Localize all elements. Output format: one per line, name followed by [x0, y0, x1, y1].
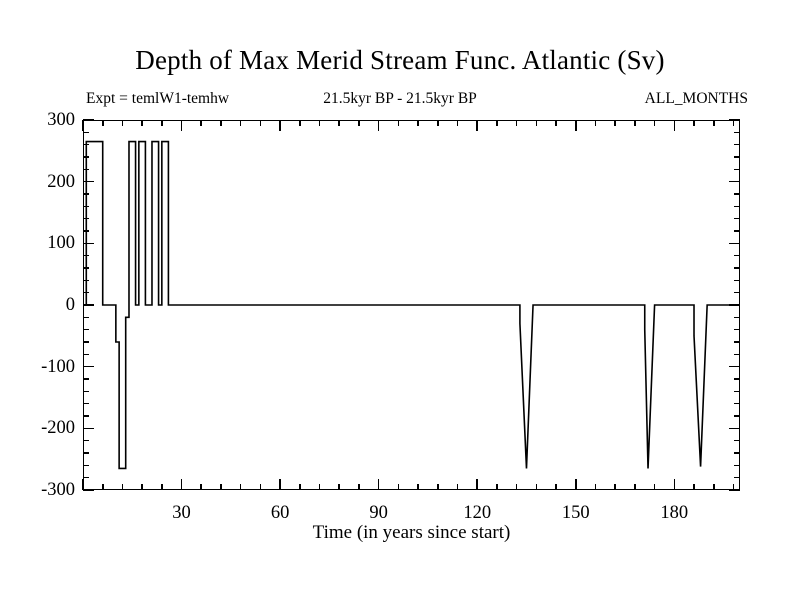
x-tick-minor — [733, 484, 735, 490]
y-tick-minor-right — [734, 144, 740, 146]
y-tick-minor — [83, 193, 89, 195]
x-tick-minor-top — [536, 120, 538, 126]
x-tick-minor — [536, 484, 538, 490]
x-tick-minor — [457, 484, 459, 490]
y-tick-major — [83, 366, 94, 368]
x-tick-major — [181, 479, 183, 490]
x-tick-minor-top — [713, 120, 715, 126]
y-tick-major — [83, 119, 94, 121]
y-tick-minor-right — [734, 156, 740, 158]
x-tick-minor — [240, 484, 242, 490]
x-tick-minor-top — [733, 120, 735, 126]
y-tick-minor-right — [734, 218, 740, 220]
x-tick-label: 60 — [245, 504, 315, 522]
y-tick-label: 200 — [5, 173, 75, 191]
y-tick-minor — [83, 280, 89, 282]
x-tick-minor — [122, 484, 124, 490]
y-tick-minor — [83, 477, 89, 479]
y-tick-major — [83, 489, 94, 491]
y-tick-minor-right — [734, 132, 740, 134]
x-tick-label: 30 — [147, 504, 217, 522]
y-tick-major-right — [729, 489, 740, 491]
x-tick-minor-top — [634, 120, 636, 126]
y-tick-minor-right — [734, 391, 740, 393]
y-tick-minor — [83, 218, 89, 220]
y-tick-major-right — [729, 428, 740, 430]
x-tick-major-top — [476, 120, 478, 131]
chart-figure: Depth of Max Merid Stream Func. Atlantic… — [0, 0, 800, 600]
y-tick-major — [83, 181, 94, 183]
x-tick-minor — [595, 484, 597, 490]
y-tick-minor — [83, 156, 89, 158]
x-tick-minor — [713, 484, 715, 490]
y-tick-minor-right — [734, 378, 740, 380]
x-tick-minor-top — [417, 120, 419, 126]
x-tick-major-top — [575, 120, 577, 131]
x-tick-minor-top — [102, 120, 104, 126]
y-tick-major-right — [729, 243, 740, 245]
y-tick-label: 100 — [5, 234, 75, 252]
x-tick-minor-top — [319, 120, 321, 126]
y-tick-minor — [83, 132, 89, 134]
x-tick-minor-top — [614, 120, 616, 126]
y-tick-minor-right — [734, 440, 740, 442]
y-tick-major — [83, 304, 94, 306]
y-tick-minor — [83, 267, 89, 269]
x-tick-minor-top — [398, 120, 400, 126]
y-tick-minor-right — [734, 329, 740, 331]
y-tick-minor — [83, 144, 89, 146]
y-tick-minor-right — [734, 341, 740, 343]
y-tick-minor-right — [734, 193, 740, 195]
x-tick-minor — [634, 484, 636, 490]
y-tick-minor-right — [734, 292, 740, 294]
x-tick-major — [476, 479, 478, 490]
x-tick-minor-top — [654, 120, 656, 126]
y-tick-minor-right — [734, 317, 740, 319]
y-tick-minor-right — [734, 206, 740, 208]
x-tick-major-top — [82, 120, 84, 131]
y-tick-major-right — [729, 181, 740, 183]
data-series-line — [83, 120, 740, 490]
x-tick-minor — [102, 484, 104, 490]
x-tick-minor-top — [141, 120, 143, 126]
y-tick-minor — [83, 341, 89, 343]
x-tick-minor — [161, 484, 163, 490]
x-tick-minor — [516, 484, 518, 490]
x-tick-minor-top — [240, 120, 242, 126]
x-tick-minor-top — [299, 120, 301, 126]
y-tick-minor-right — [734, 230, 740, 232]
x-tick-major-top — [279, 120, 281, 131]
y-tick-minor — [83, 465, 89, 467]
y-tick-minor — [83, 317, 89, 319]
y-tick-minor — [83, 440, 89, 442]
x-tick-minor — [398, 484, 400, 490]
y-tick-minor-right — [734, 452, 740, 454]
y-tick-label: -200 — [5, 419, 75, 437]
y-tick-minor-right — [734, 465, 740, 467]
x-axis-title: Time (in years since start) — [83, 522, 740, 544]
x-tick-major-top — [378, 120, 380, 131]
y-tick-minor-right — [734, 403, 740, 405]
x-tick-minor-top — [457, 120, 459, 126]
plot-area — [83, 120, 740, 490]
months-label: ALL_MONTHS — [645, 89, 748, 108]
y-tick-minor — [83, 292, 89, 294]
x-tick-minor-top — [161, 120, 163, 126]
y-tick-minor — [83, 452, 89, 454]
y-tick-major — [83, 428, 94, 430]
x-tick-minor — [358, 484, 360, 490]
x-tick-minor — [496, 484, 498, 490]
y-tick-minor — [83, 403, 89, 405]
x-tick-minor-top — [358, 120, 360, 126]
y-tick-minor-right — [734, 267, 740, 269]
x-tick-minor — [693, 484, 695, 490]
y-tick-minor — [83, 378, 89, 380]
x-tick-minor-top — [122, 120, 124, 126]
y-tick-label: -300 — [5, 481, 75, 499]
x-tick-minor-top — [220, 120, 222, 126]
x-tick-label: 180 — [639, 504, 709, 522]
y-tick-minor — [83, 415, 89, 417]
x-tick-minor — [200, 484, 202, 490]
x-tick-minor-top — [496, 120, 498, 126]
x-tick-major — [82, 479, 84, 490]
y-tick-minor-right — [734, 477, 740, 479]
y-tick-minor-right — [734, 169, 740, 171]
x-tick-minor-top — [338, 120, 340, 126]
x-tick-minor — [299, 484, 301, 490]
y-tick-minor — [83, 255, 89, 257]
x-tick-minor — [141, 484, 143, 490]
y-tick-minor-right — [734, 354, 740, 356]
x-tick-minor-top — [595, 120, 597, 126]
page-title: Depth of Max Merid Stream Func. Atlantic… — [0, 44, 800, 76]
x-tick-minor-top — [516, 120, 518, 126]
y-tick-minor — [83, 169, 89, 171]
x-tick-label: 120 — [442, 504, 512, 522]
x-tick-minor — [614, 484, 616, 490]
x-tick-major-top — [181, 120, 183, 131]
x-tick-minor-top — [555, 120, 557, 126]
x-tick-minor — [220, 484, 222, 490]
y-tick-major-right — [729, 304, 740, 306]
y-tick-label: 300 — [5, 111, 75, 129]
y-tick-minor — [83, 329, 89, 331]
x-tick-major — [378, 479, 380, 490]
x-tick-label: 90 — [344, 504, 414, 522]
x-tick-minor-top — [200, 120, 202, 126]
x-tick-minor — [338, 484, 340, 490]
y-tick-major — [83, 243, 94, 245]
x-tick-minor — [437, 484, 439, 490]
x-tick-minor-top — [437, 120, 439, 126]
x-tick-minor-top — [693, 120, 695, 126]
y-tick-minor — [83, 230, 89, 232]
y-tick-minor-right — [734, 280, 740, 282]
y-tick-major-right — [729, 366, 740, 368]
y-tick-label: 0 — [5, 296, 75, 314]
y-tick-minor-right — [734, 415, 740, 417]
y-tick-minor — [83, 206, 89, 208]
y-tick-minor-right — [734, 255, 740, 257]
y-tick-minor — [83, 391, 89, 393]
x-tick-minor — [555, 484, 557, 490]
y-tick-minor — [83, 354, 89, 356]
x-tick-minor — [319, 484, 321, 490]
y-tick-major-right — [729, 119, 740, 121]
x-tick-minor — [417, 484, 419, 490]
x-tick-major-top — [674, 120, 676, 131]
x-tick-major — [575, 479, 577, 490]
y-tick-label: -100 — [5, 358, 75, 376]
x-tick-minor-top — [260, 120, 262, 126]
x-tick-major — [674, 479, 676, 490]
x-tick-label: 150 — [541, 504, 611, 522]
x-tick-minor — [260, 484, 262, 490]
x-tick-minor — [654, 484, 656, 490]
x-tick-major — [279, 479, 281, 490]
